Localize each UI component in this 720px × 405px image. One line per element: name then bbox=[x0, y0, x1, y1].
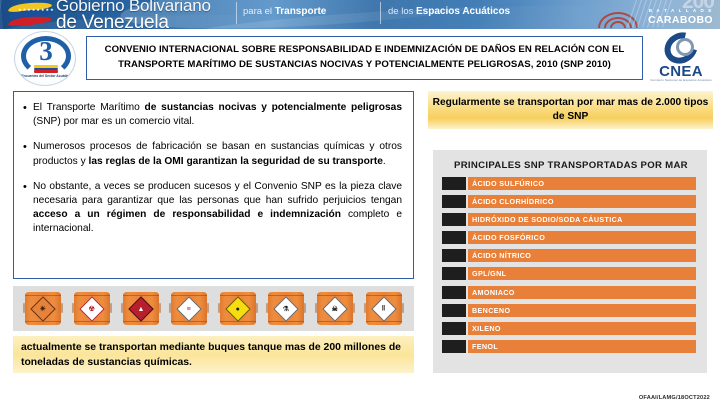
drum-ridge-right bbox=[402, 303, 404, 313]
drum-ridge-left bbox=[169, 303, 171, 313]
chart-bar: BENCENO bbox=[468, 304, 696, 317]
bullet-convenio-snp: • No obstante, a veces se producen suces… bbox=[22, 180, 402, 237]
drum-flammable-solid: ☢ bbox=[72, 292, 112, 325]
bullet-marker: • bbox=[22, 101, 33, 129]
drum-ridge-left bbox=[364, 303, 366, 313]
banner-ministry-label: para el Transporte bbox=[243, 6, 326, 17]
chart-row-swatch bbox=[442, 195, 466, 208]
drum-ridge-left bbox=[72, 303, 74, 313]
chart-bar-row: ÁCIDO SULFÚRICO bbox=[442, 176, 698, 191]
chart-bar-label: BENCENO bbox=[468, 306, 510, 315]
encuentro-number: 3 bbox=[15, 36, 76, 67]
yellow-bottom-text: actualmente se transportan mediante buqu… bbox=[21, 341, 406, 370]
cnea-subtitle: Comisión Nacional de Espacios Acuáticos bbox=[650, 78, 712, 82]
hazard-placard-icon: ☢ bbox=[80, 298, 104, 319]
drum-ridge-right bbox=[353, 303, 355, 313]
hazard-placard-icon: ‖ bbox=[372, 298, 396, 319]
hazard-placard-icon: ☀ bbox=[31, 298, 55, 319]
banner-institute-bold: Espacios Acuáticos bbox=[416, 6, 510, 17]
chart-bar: FENOL bbox=[468, 340, 696, 353]
chart-bar-row: XILENO bbox=[442, 321, 698, 336]
carabobo-battle-label: B A T A L L A D E bbox=[649, 8, 713, 13]
banner-institute-prefix: de los bbox=[388, 6, 416, 17]
carabobo-bicentennial-logo: 200 B A T A L L A D E CARABOBO bbox=[596, 0, 716, 29]
bullet-procesos-fabricacion: • Numerosos procesos de fabricación se b… bbox=[22, 140, 402, 168]
chart-bar-row: BENCENO bbox=[442, 303, 698, 318]
drum-ridge-right bbox=[256, 303, 258, 313]
right-yellow-text: Regularmente se transportan por mar mas … bbox=[428, 96, 713, 124]
drum-flammable-liquid: ▲ bbox=[121, 292, 161, 325]
chart-bar-row: GPL/GNL bbox=[442, 266, 698, 281]
venezuela-flag-icon: ★★★★★★★★ bbox=[8, 2, 54, 27]
chart-row-swatch bbox=[442, 340, 466, 353]
bullet-transporte-maritimo: • El Transporte Marítimo de sustancias n… bbox=[22, 101, 402, 129]
banner-institute-label: de los Espacios Acuáticos bbox=[388, 6, 510, 17]
chart-bar: ÁCIDO CLORHÍDRICO bbox=[468, 195, 696, 208]
right-yellow-callout: Regularmente se transportan por mar mas … bbox=[428, 91, 713, 129]
drum-ridge-right bbox=[110, 303, 112, 313]
banner-gov-line-2: de Venezuela bbox=[56, 13, 386, 29]
chart-row-swatch bbox=[442, 249, 466, 262]
drum-ridge-right bbox=[159, 303, 161, 313]
banner-ministry-prefix: para el bbox=[243, 6, 275, 17]
drum-ridge-right bbox=[207, 303, 209, 313]
drum-explosive: ☀ bbox=[23, 292, 63, 325]
banner-separator-1 bbox=[236, 2, 237, 24]
hazard-drums-strip: ☀☢▲≡●⚗☠‖ bbox=[13, 286, 414, 331]
chart-bar-label: ÁCIDO NÍTRICO bbox=[468, 251, 531, 260]
yellow-bottom-banner: actualmente se transportan mediante buqu… bbox=[13, 336, 414, 373]
hazard-placard-icon: ● bbox=[226, 298, 250, 319]
drum-toxic: ☠ bbox=[315, 292, 355, 325]
cnea-logo: CNEA Comisión Nacional de Espacios Acuát… bbox=[650, 33, 712, 85]
chart-bar: XILENO bbox=[468, 322, 696, 335]
chart-row-swatch bbox=[442, 213, 466, 226]
chart-bar-label: FENOL bbox=[468, 342, 498, 351]
carabobo-name-label: CARABOBO bbox=[648, 14, 713, 26]
left-content-box: • El Transporte Marítimo de sustancias n… bbox=[13, 91, 414, 279]
bullet-marker: • bbox=[22, 140, 33, 168]
hazard-placard-icon: ▲ bbox=[129, 298, 153, 319]
mini-flag-icon bbox=[34, 65, 58, 73]
chart-row-swatch bbox=[442, 304, 466, 317]
drum-misc-striped: ‖ bbox=[364, 292, 404, 325]
chart-bar: HIDRÓXIDO DE SODIO/SODA CÁUSTICA bbox=[468, 213, 696, 226]
drum-ridge-left bbox=[121, 303, 123, 313]
drum-ridge-left bbox=[315, 303, 317, 313]
bullet-marker: • bbox=[22, 180, 33, 237]
drum-ridge-left bbox=[218, 303, 220, 313]
chart-bar-label: GPL/GNL bbox=[468, 269, 506, 278]
chart-bar-row: ÁCIDO FOSFÓRICO bbox=[442, 230, 698, 245]
slide-title-row: 3 Encuentro del Sector Acuático CONVENIO… bbox=[0, 29, 720, 88]
chart-bar-row: ÁCIDO NÍTRICO bbox=[442, 248, 698, 263]
chart-rows: ÁCIDO SULFÚRICOÁCIDO CLORHÍDRICOHIDRÓXID… bbox=[442, 176, 698, 355]
drum-ridge-right bbox=[61, 303, 63, 313]
footer-reference: OFAAI/LAMG/18OCT2022 bbox=[639, 395, 710, 401]
government-banner: ★★★★★★★★ Gobierno Bolivariano de Venezue… bbox=[0, 0, 720, 29]
chart-bar: AMONIACO bbox=[468, 286, 696, 299]
banner-gov-line-1: Gobierno Bolivariano bbox=[56, 0, 386, 14]
cnea-inner-circle-icon bbox=[679, 41, 691, 53]
chart-bar-label: XILENO bbox=[468, 324, 501, 333]
hazard-placard-icon: ≡ bbox=[177, 298, 201, 319]
chart-title: PRINCIPALES SNP TRANSPORTADAS POR MAR bbox=[454, 160, 698, 172]
chart-row-swatch bbox=[442, 267, 466, 280]
bullet-text: No obstante, a veces se producen sucesos… bbox=[33, 180, 402, 237]
chart-bar-row: ÁCIDO CLORHÍDRICO bbox=[442, 194, 698, 209]
banner-separator-2 bbox=[380, 2, 381, 24]
chart-bar: GPL/GNL bbox=[468, 267, 696, 280]
chart-row-swatch bbox=[442, 286, 466, 299]
chart-bar-label: AMONIACO bbox=[468, 288, 515, 297]
hazard-placard-icon: ☠ bbox=[323, 298, 347, 319]
chart-bar: ÁCIDO NÍTRICO bbox=[468, 249, 696, 262]
chart-bar-label: ÁCIDO CLORHÍDRICO bbox=[468, 197, 554, 206]
drum-flammable-striped: ≡ bbox=[169, 292, 209, 325]
chart-bar: ÁCIDO SULFÚRICO bbox=[468, 177, 696, 190]
chart-row-swatch bbox=[442, 322, 466, 335]
bullet-text: El Transporte Marítimo de sustancias noc… bbox=[33, 101, 402, 129]
chart-bar-label: HIDRÓXIDO DE SODIO/SODA CÁUSTICA bbox=[468, 215, 623, 224]
drum-ridge-right bbox=[304, 303, 306, 313]
convention-title-box: CONVENIO INTERNACIONAL SOBRE RESPONSABIL… bbox=[86, 36, 643, 80]
chart-bar: ÁCIDO FOSFÓRICO bbox=[468, 231, 696, 244]
chart-bar-row: HIDRÓXIDO DE SODIO/SODA CÁUSTICA bbox=[442, 212, 698, 227]
banner-ministry-bold: Transporte bbox=[275, 6, 327, 17]
chart-row-swatch bbox=[442, 231, 466, 244]
snp-bar-chart-panel: PRINCIPALES SNP TRANSPORTADAS POR MAR ÁC… bbox=[433, 150, 707, 373]
hazard-placard-icon: ⚗ bbox=[274, 298, 298, 319]
encuentro-caption: Encuentro del Sector Acuático bbox=[15, 74, 76, 78]
drum-ridge-left bbox=[23, 303, 25, 313]
chart-bar-row: AMONIACO bbox=[442, 285, 698, 300]
encuentro-sector-acuatico-logo: 3 Encuentro del Sector Acuático bbox=[14, 31, 76, 86]
drum-corrosive: ⚗ bbox=[266, 292, 306, 325]
chart-row-swatch bbox=[442, 177, 466, 190]
banner-government-title: Gobierno Bolivariano de Venezuela bbox=[56, 0, 386, 29]
page-title: CONVENIO INTERNACIONAL SOBRE RESPONSABIL… bbox=[93, 43, 636, 73]
bullet-text: Numerosos procesos de fabricación se bas… bbox=[33, 140, 402, 168]
drum-oxidizer: ● bbox=[218, 292, 258, 325]
chart-bar-row: FENOL bbox=[442, 339, 698, 354]
chart-bar-label: ÁCIDO FOSFÓRICO bbox=[468, 233, 545, 242]
chart-bar-label: ÁCIDO SULFÚRICO bbox=[468, 179, 544, 188]
